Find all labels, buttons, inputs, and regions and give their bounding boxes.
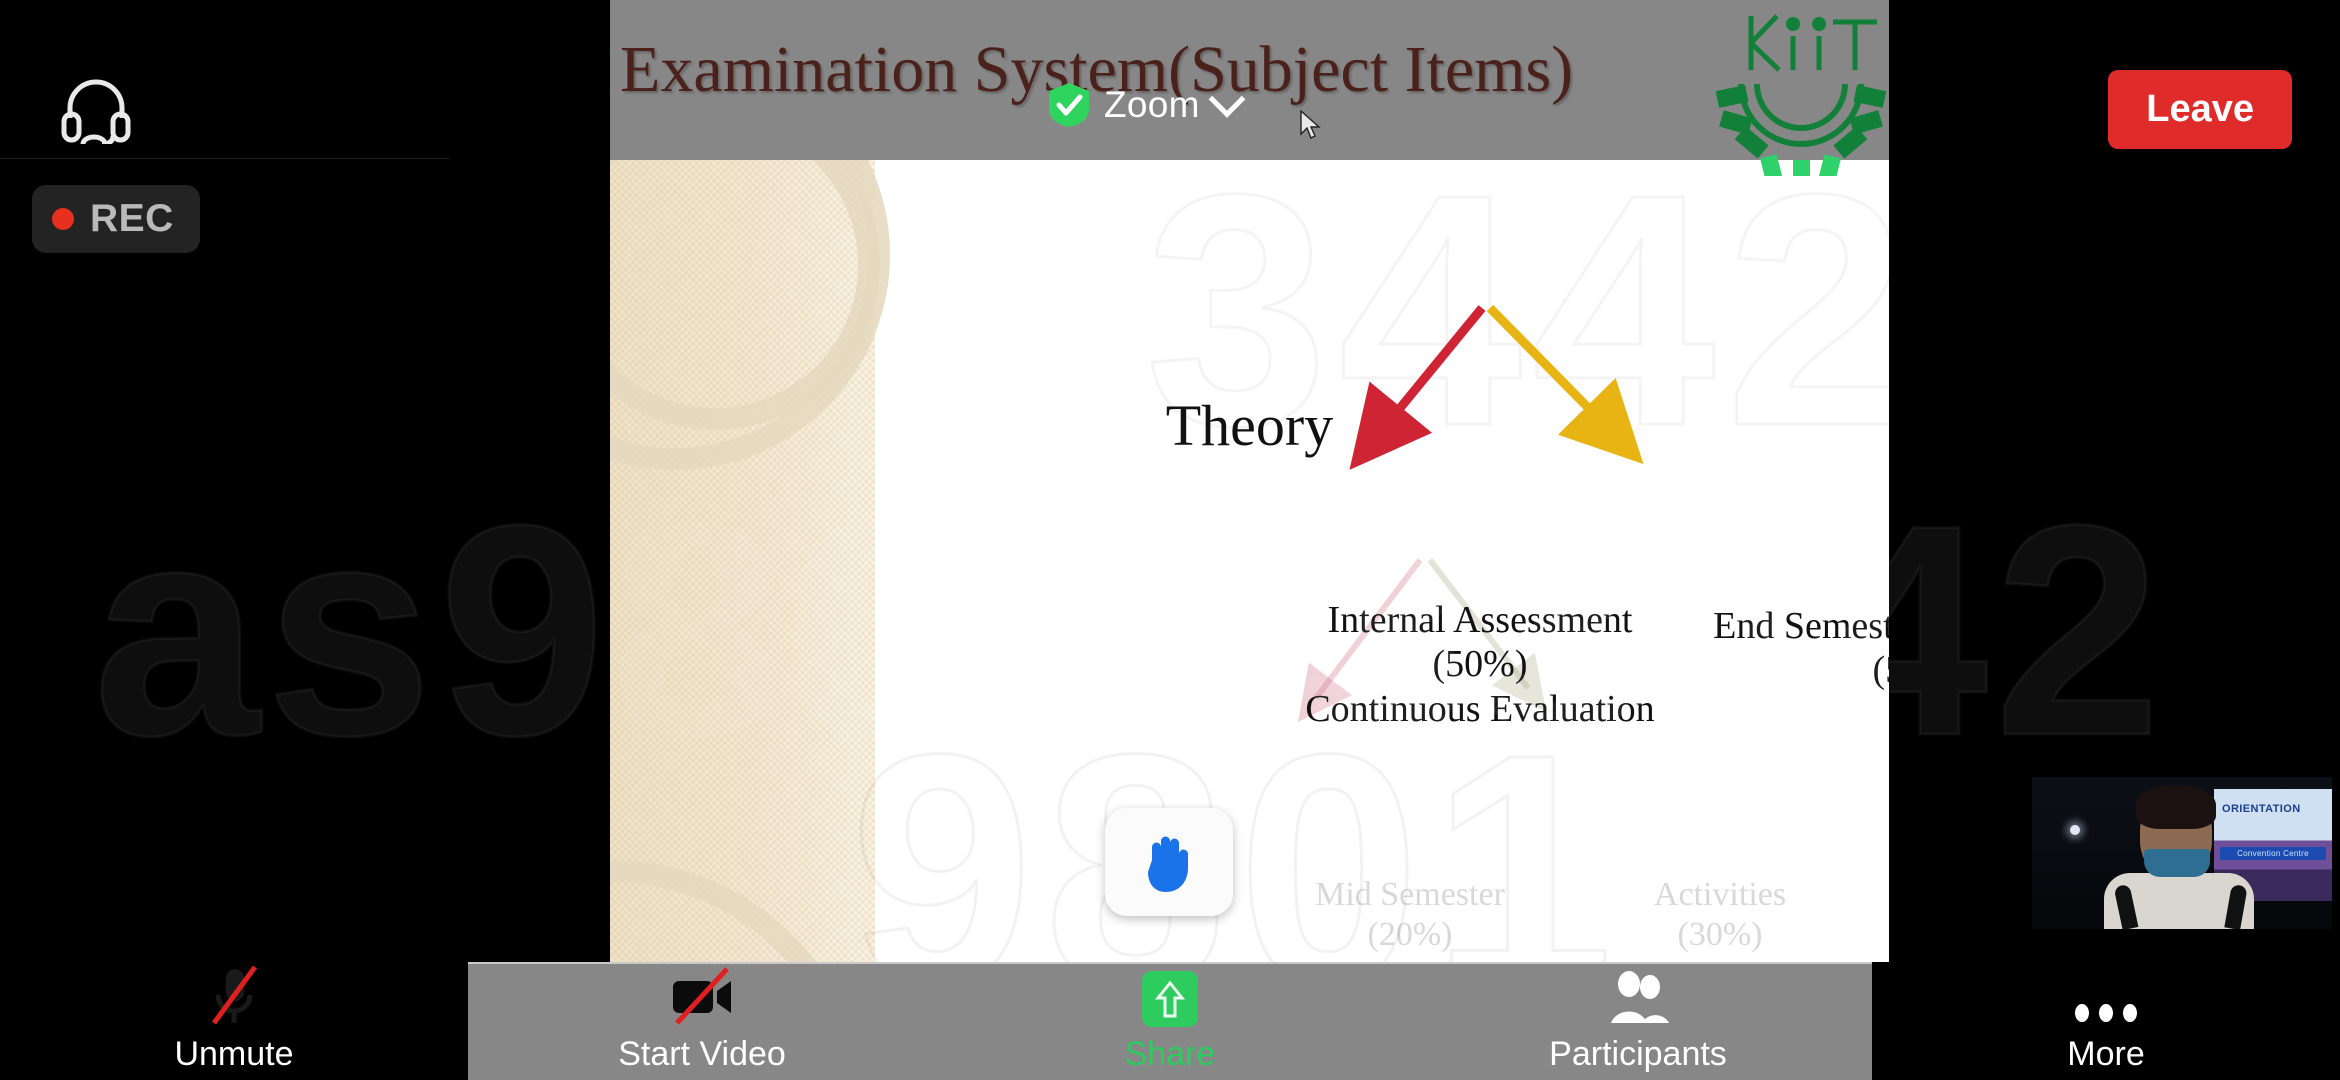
toolbar-item-more[interactable]: More bbox=[1872, 962, 2340, 1080]
toolbar-label-share: Share bbox=[1125, 1035, 1216, 1074]
raise-hand-button[interactable] bbox=[1105, 808, 1233, 916]
node-internal-assessment: Internal Assessment (50%) Continuous Eva… bbox=[1270, 598, 1690, 731]
node-mid-semester-title: Mid Semester bbox=[1250, 875, 1570, 915]
record-dot-icon bbox=[52, 208, 74, 230]
toolbar-item-share[interactable]: Share bbox=[936, 962, 1404, 1080]
node-end-semester-exam-pct: (50%) bbox=[1690, 648, 1889, 692]
speaker-video-thumbnail[interactable]: ORIENTATION Convention Centre bbox=[2032, 777, 2332, 929]
toolbar-item-unmute[interactable]: Unmute bbox=[0, 962, 468, 1080]
video-off-icon bbox=[669, 965, 735, 1027]
rail-divider bbox=[0, 158, 449, 159]
meeting-toolbar: Unmute Start Video Share bbox=[0, 962, 2340, 1080]
toolbar-item-start-video[interactable]: Start Video bbox=[468, 962, 936, 1080]
presentation-slide: 3442 9801 Theory Internal Assessment (50 bbox=[610, 160, 1889, 962]
chevron-down-icon[interactable] bbox=[1208, 81, 1245, 118]
recording-label: REC bbox=[90, 197, 174, 241]
toolbar-label-unmute: Unmute bbox=[174, 1035, 293, 1074]
thumbnail-slide-title: ORIENTATION bbox=[2222, 803, 2301, 815]
share-screen-icon bbox=[1142, 971, 1198, 1027]
kiit-logo bbox=[1715, 6, 1887, 176]
zoom-app-label: Zoom bbox=[1104, 84, 1200, 126]
node-end-semester-exam: End Semester Examination (50%) bbox=[1690, 604, 1889, 693]
node-internal-assessment-pct: (50%) bbox=[1270, 642, 1690, 686]
shield-check-icon bbox=[1048, 82, 1090, 128]
thumbnail-slide-caption: Convention Centre bbox=[2220, 847, 2326, 860]
headset-icon[interactable] bbox=[60, 78, 132, 149]
node-activities-title: Activities bbox=[1570, 875, 1870, 915]
participants-icon bbox=[1606, 969, 1670, 1027]
node-mid-semester: Mid Semester (20%) bbox=[1250, 875, 1570, 955]
node-activities: Activities (30%) bbox=[1570, 875, 1870, 955]
toolbar-label-more: More bbox=[2067, 1035, 2144, 1074]
leave-button[interactable]: Leave bbox=[2108, 70, 2292, 149]
toolbar-item-participants[interactable]: Participants bbox=[1404, 962, 1872, 1080]
toolbar-label-participants: Participants bbox=[1549, 1035, 1727, 1074]
node-internal-assessment-title: Internal Assessment bbox=[1270, 598, 1690, 642]
face-mask bbox=[2144, 849, 2210, 877]
more-dots-icon bbox=[2070, 999, 2142, 1027]
node-internal-assessment-sub: Continuous Evaluation bbox=[1270, 687, 1690, 731]
node-theory: Theory bbox=[610, 392, 1889, 460]
microphone-muted-icon bbox=[205, 965, 263, 1027]
zoom-status-indicator[interactable]: Zoom bbox=[1048, 82, 1240, 128]
node-activities-pct: (30%) bbox=[1570, 915, 1870, 955]
recording-badge: REC bbox=[32, 185, 200, 253]
raised-hand-icon bbox=[1140, 830, 1198, 894]
diagram-arrows bbox=[610, 160, 1889, 962]
cursor-pointer-icon bbox=[1300, 110, 1322, 145]
toolbar-label-start-video: Start Video bbox=[618, 1035, 786, 1074]
zoom-meeting-screen: as9801233442 REC 3442 9801 bbox=[0, 0, 2340, 1080]
node-mid-semester-pct: (20%) bbox=[1250, 915, 1570, 955]
node-end-semester-exam-title: End Semester Examination bbox=[1690, 604, 1889, 648]
